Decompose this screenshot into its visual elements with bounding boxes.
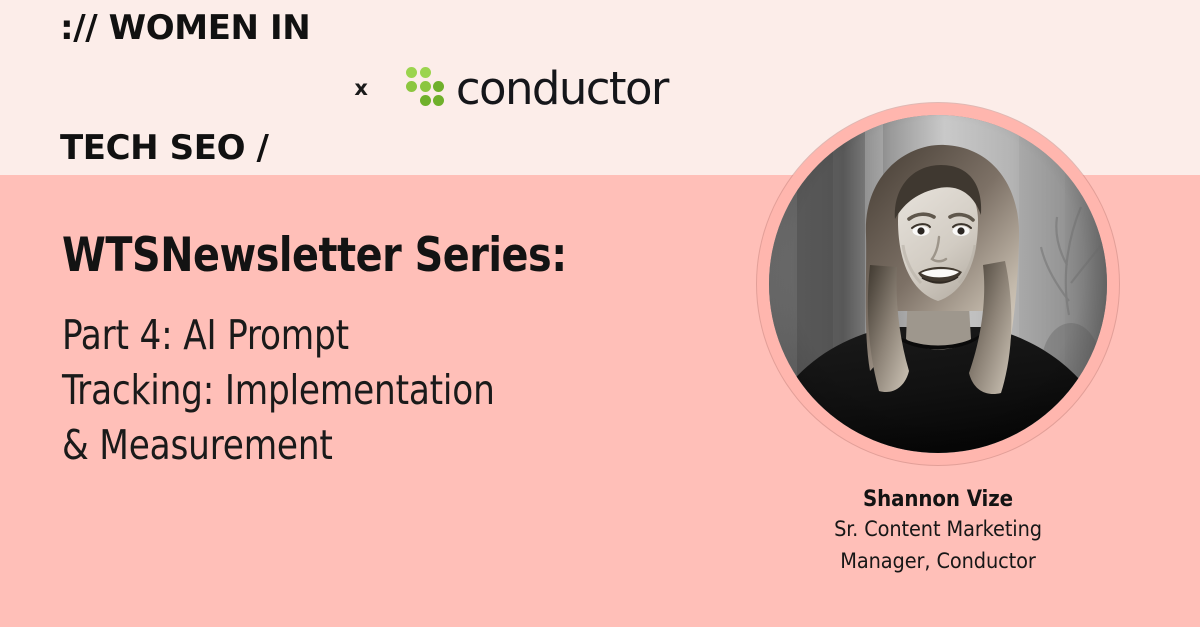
speaker-portrait-ring bbox=[757, 103, 1119, 465]
logo-row: :// WOMEN IN TECH SEO / x conductor bbox=[60, 42, 668, 134]
episode-subheadline: Part 4: AI Prompt Tracking: Implementati… bbox=[62, 308, 657, 473]
subheadline-line-2: Tracking: Implementation bbox=[62, 363, 657, 418]
headline-block: WTSNewsletter Series: Part 4: AI Prompt … bbox=[62, 228, 702, 473]
wts-logo-line-2: TECH SEO / bbox=[60, 128, 310, 168]
conductor-wordmark: conductor bbox=[456, 62, 668, 115]
speaker-avatar bbox=[769, 115, 1107, 453]
speaker-role: Sr. Content Marketing Manager, Conductor bbox=[768, 514, 1108, 578]
series-headline: WTSNewsletter Series: bbox=[62, 228, 664, 284]
speaker-role-line-2: Manager, Conductor bbox=[768, 546, 1108, 578]
speaker-photo bbox=[769, 115, 1107, 453]
logo-separator-x: x bbox=[354, 76, 368, 100]
speaker-name: Shannon Vize bbox=[768, 486, 1108, 514]
conductor-logo[interactable]: conductor bbox=[406, 62, 668, 115]
subheadline-line-1: Part 4: AI Prompt bbox=[62, 308, 657, 363]
speaker-caption: Shannon Vize Sr. Content Marketing Manag… bbox=[768, 486, 1108, 578]
subheadline-line-3: & Measurement bbox=[62, 418, 657, 473]
webinar-promo-banner: :// WOMEN IN TECH SEO / x conductor WTSN… bbox=[0, 0, 1200, 627]
speaker-role-line-1: Sr. Content Marketing bbox=[768, 514, 1108, 546]
conductor-dot-grid-icon bbox=[406, 67, 444, 109]
wts-logo-line-1: :// WOMEN IN bbox=[60, 8, 310, 48]
wts-logo[interactable]: :// WOMEN IN TECH SEO / bbox=[60, 0, 310, 248]
